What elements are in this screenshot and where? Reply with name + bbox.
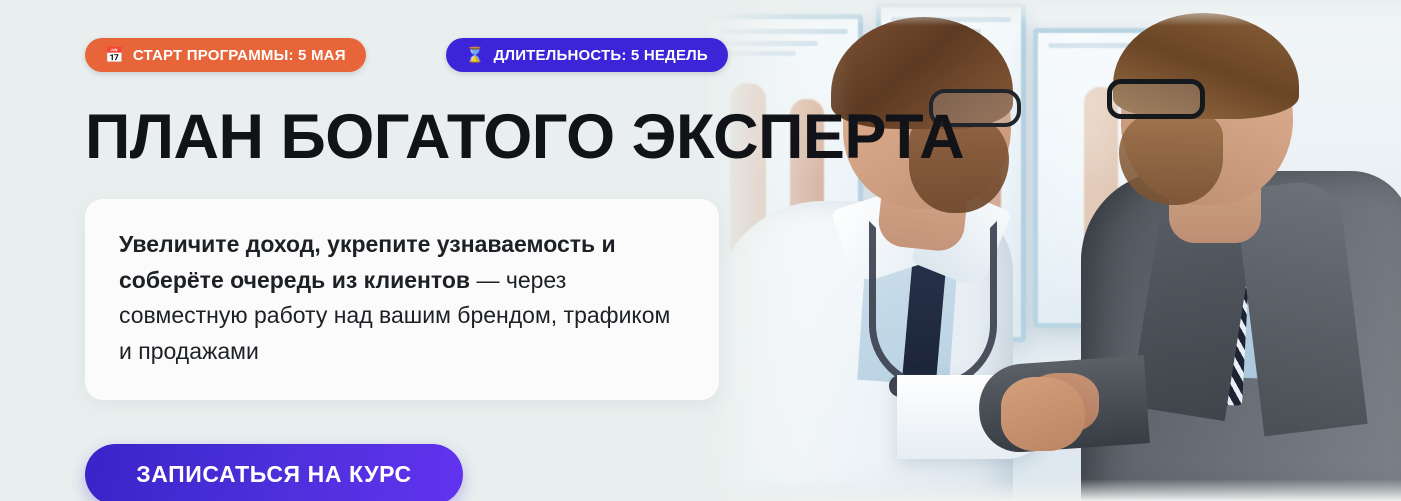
enroll-button[interactable]: ЗАПИСАТЬСЯ НА КУРС bbox=[85, 444, 463, 501]
hourglass-icon: ⌛ bbox=[466, 48, 485, 63]
calendar-icon: 📅 bbox=[105, 48, 124, 63]
badge-duration-label: ДЛИТЕЛЬНОСТЬ: 5 НЕДЕЛЬ bbox=[494, 47, 708, 64]
badge-program-start[interactable]: 📅 СТАРТ ПРОГРАММЫ: 5 МАЯ bbox=[85, 38, 366, 72]
hero-banner: 📅 СТАРТ ПРОГРАММЫ: 5 МАЯ ⌛ ДЛИТЕЛЬНОСТЬ:… bbox=[0, 0, 1401, 501]
hero-photo bbox=[661, 0, 1401, 501]
value-proposition-text: Увеличите доход, укрепите узнаваемость и… bbox=[119, 227, 685, 370]
badge-duration[interactable]: ⌛ ДЛИТЕЛЬНОСТЬ: 5 НЕДЕЛЬ bbox=[446, 38, 728, 72]
hand bbox=[1001, 377, 1085, 451]
badge-row: 📅 СТАРТ ПРОГРАММЫ: 5 МАЯ ⌛ ДЛИТЕЛЬНОСТЬ:… bbox=[85, 38, 760, 72]
page-title: ПЛАН БОГАТОГО ЭКСПЕРТА bbox=[85, 106, 760, 169]
cta-container: ЗАПИСАТЬСЯ НА КУРС bbox=[85, 444, 760, 501]
businessman-glasses bbox=[1107, 79, 1205, 119]
value-proposition-card: Увеличите доход, укрепите узнаваемость и… bbox=[85, 199, 719, 400]
handshake bbox=[897, 339, 1147, 469]
badge-program-start-label: СТАРТ ПРОГРАММЫ: 5 МАЯ bbox=[133, 47, 346, 64]
hero-content: 📅 СТАРТ ПРОГРАММЫ: 5 МАЯ ⌛ ДЛИТЕЛЬНОСТЬ:… bbox=[0, 0, 760, 501]
